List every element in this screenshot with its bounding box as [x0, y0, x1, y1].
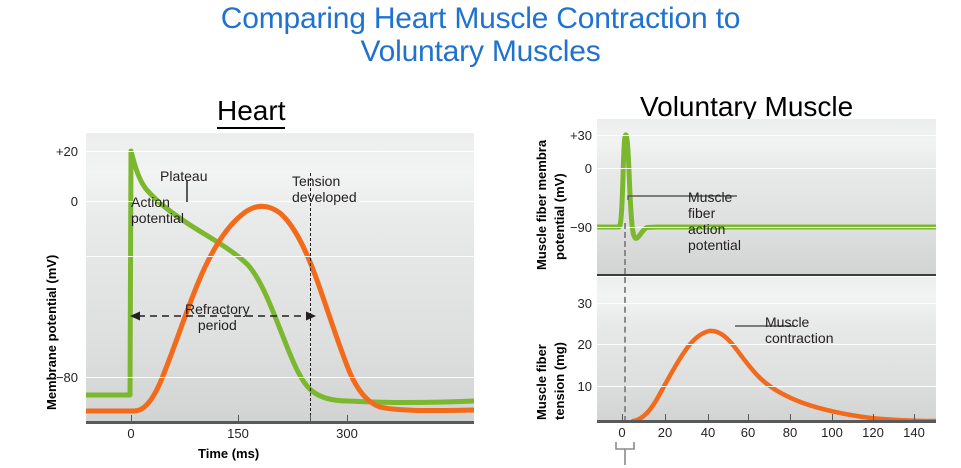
voluntary-bottom-ytick-20: 20: [560, 337, 592, 352]
voluntary-top-gridline-minus90: [597, 227, 936, 228]
slide-title-line1: Comparing Heart Muscle Contraction to: [0, 2, 961, 35]
voluntary-bottom-plot-area: [597, 277, 936, 422]
voluntary-top-annotation: Muscle fiber action potential: [688, 189, 741, 253]
voluntary-top-ytick-minus90: −90: [556, 220, 592, 235]
voluntary-bottom-gridline-30: [597, 303, 936, 304]
slide-title: Comparing Heart Muscle Contraction to Vo…: [0, 2, 961, 68]
voluntary-bottom-marker-line: [624, 277, 626, 422]
heart-xtick-150: 150: [218, 426, 258, 441]
heart-ytick-minus80: −80: [38, 370, 78, 385]
voluntary-xtick-mark-40: [708, 414, 709, 420]
heart-x-axis-title: Time (ms): [198, 446, 259, 461]
voluntary-bottom-ytick-10: 10: [560, 379, 592, 394]
heart-xtick-mark-0: [131, 415, 132, 421]
voluntary-bottom-ytick-30: 30: [560, 296, 592, 311]
voluntary-top-y-axis-title-line1: Muscle fiber membra: [534, 140, 549, 270]
voluntary-xtick-mark-20: [665, 414, 666, 420]
heart-xtick-mark-300: [347, 415, 348, 421]
heart-panel-heading: Heart: [217, 96, 285, 126]
voluntary-xtick-20: 20: [645, 425, 685, 440]
slide-root: Comparing Heart Muscle Contraction to Vo…: [0, 0, 961, 468]
voluntary-top-gridline-30: [597, 135, 936, 136]
heart-xtick-mark-150: [238, 415, 239, 421]
voluntary-xtick-60: 60: [728, 425, 768, 440]
voluntary-xtick-0: 0: [602, 425, 642, 440]
heart-annotation-action-potential: Action potential: [131, 194, 184, 226]
heart-ytick-20: +20: [42, 144, 78, 159]
voluntary-xtick-mark-60: [748, 414, 749, 420]
heart-annotation-tension-developed: Tension developed: [292, 173, 357, 205]
voluntary-xtick-100: 100: [812, 425, 852, 440]
voluntary-action-potential-curve: [597, 135, 936, 238]
heart-refractory-end-marker: [310, 173, 311, 421]
heart-annotation-plateau: Plateau: [160, 168, 207, 184]
voluntary-xtick-mark-120: [873, 414, 874, 420]
heart-gridline-top: [86, 151, 474, 152]
heart-ytick-0: 0: [42, 194, 78, 209]
voluntary-tension-curve-svg: [597, 277, 936, 422]
voluntary-x-axis-line: [597, 420, 936, 423]
voluntary-xtick-40: 40: [688, 425, 728, 440]
voluntary-xtick-80: 80: [770, 425, 810, 440]
voluntary-top-ytick-0: 0: [560, 161, 592, 176]
voluntary-stimulus-bracket: [614, 441, 636, 465]
voluntary-top-gridline-0: [597, 168, 936, 169]
voluntary-xtick-mark-100: [832, 414, 833, 420]
voluntary-bottom-gridline-10: [597, 386, 936, 387]
voluntary-xtick-mark-80: [790, 414, 791, 420]
voluntary-top-y-axis-title-line2: potential (mV): [552, 173, 567, 260]
heart-annotation-refractory-period: Refractory period: [185, 301, 250, 333]
heart-gridline-mid: [86, 256, 474, 257]
slide-title-line2: Voluntary Muscles: [0, 35, 961, 68]
voluntary-top-plot-area: [597, 119, 936, 274]
heart-xtick-0: 0: [111, 426, 151, 441]
voluntary-bottom-annotation: Muscle contraction: [765, 314, 833, 346]
voluntary-xtick-mark-0: [622, 414, 623, 420]
voluntary-top-ytick-30: +30: [560, 128, 592, 143]
heart-heading-text: Heart: [217, 95, 285, 129]
heart-plot-area: [86, 133, 474, 421]
voluntary-bottom-y-axis-title-line1: Muscle fiber: [534, 344, 549, 420]
voluntary-subpanel-separator: [597, 274, 936, 276]
heart-action-potential-curve: [86, 151, 474, 403]
heart-gridline-minus80: [86, 377, 474, 378]
heart-xtick-300: 300: [327, 426, 367, 441]
voluntary-xtick-mark-140: [914, 414, 915, 420]
heart-y-axis-title: Membrane potential (mV): [44, 255, 59, 410]
heart-x-axis-line: [86, 421, 474, 424]
voluntary-panel-heading: Voluntary Muscle: [640, 92, 853, 122]
voluntary-xtick-140: 140: [894, 425, 934, 440]
voluntary-top-marker-line: [624, 223, 626, 274]
heart-xtick-mark-250: [310, 415, 311, 421]
voluntary-xtick-120: 120: [853, 425, 893, 440]
